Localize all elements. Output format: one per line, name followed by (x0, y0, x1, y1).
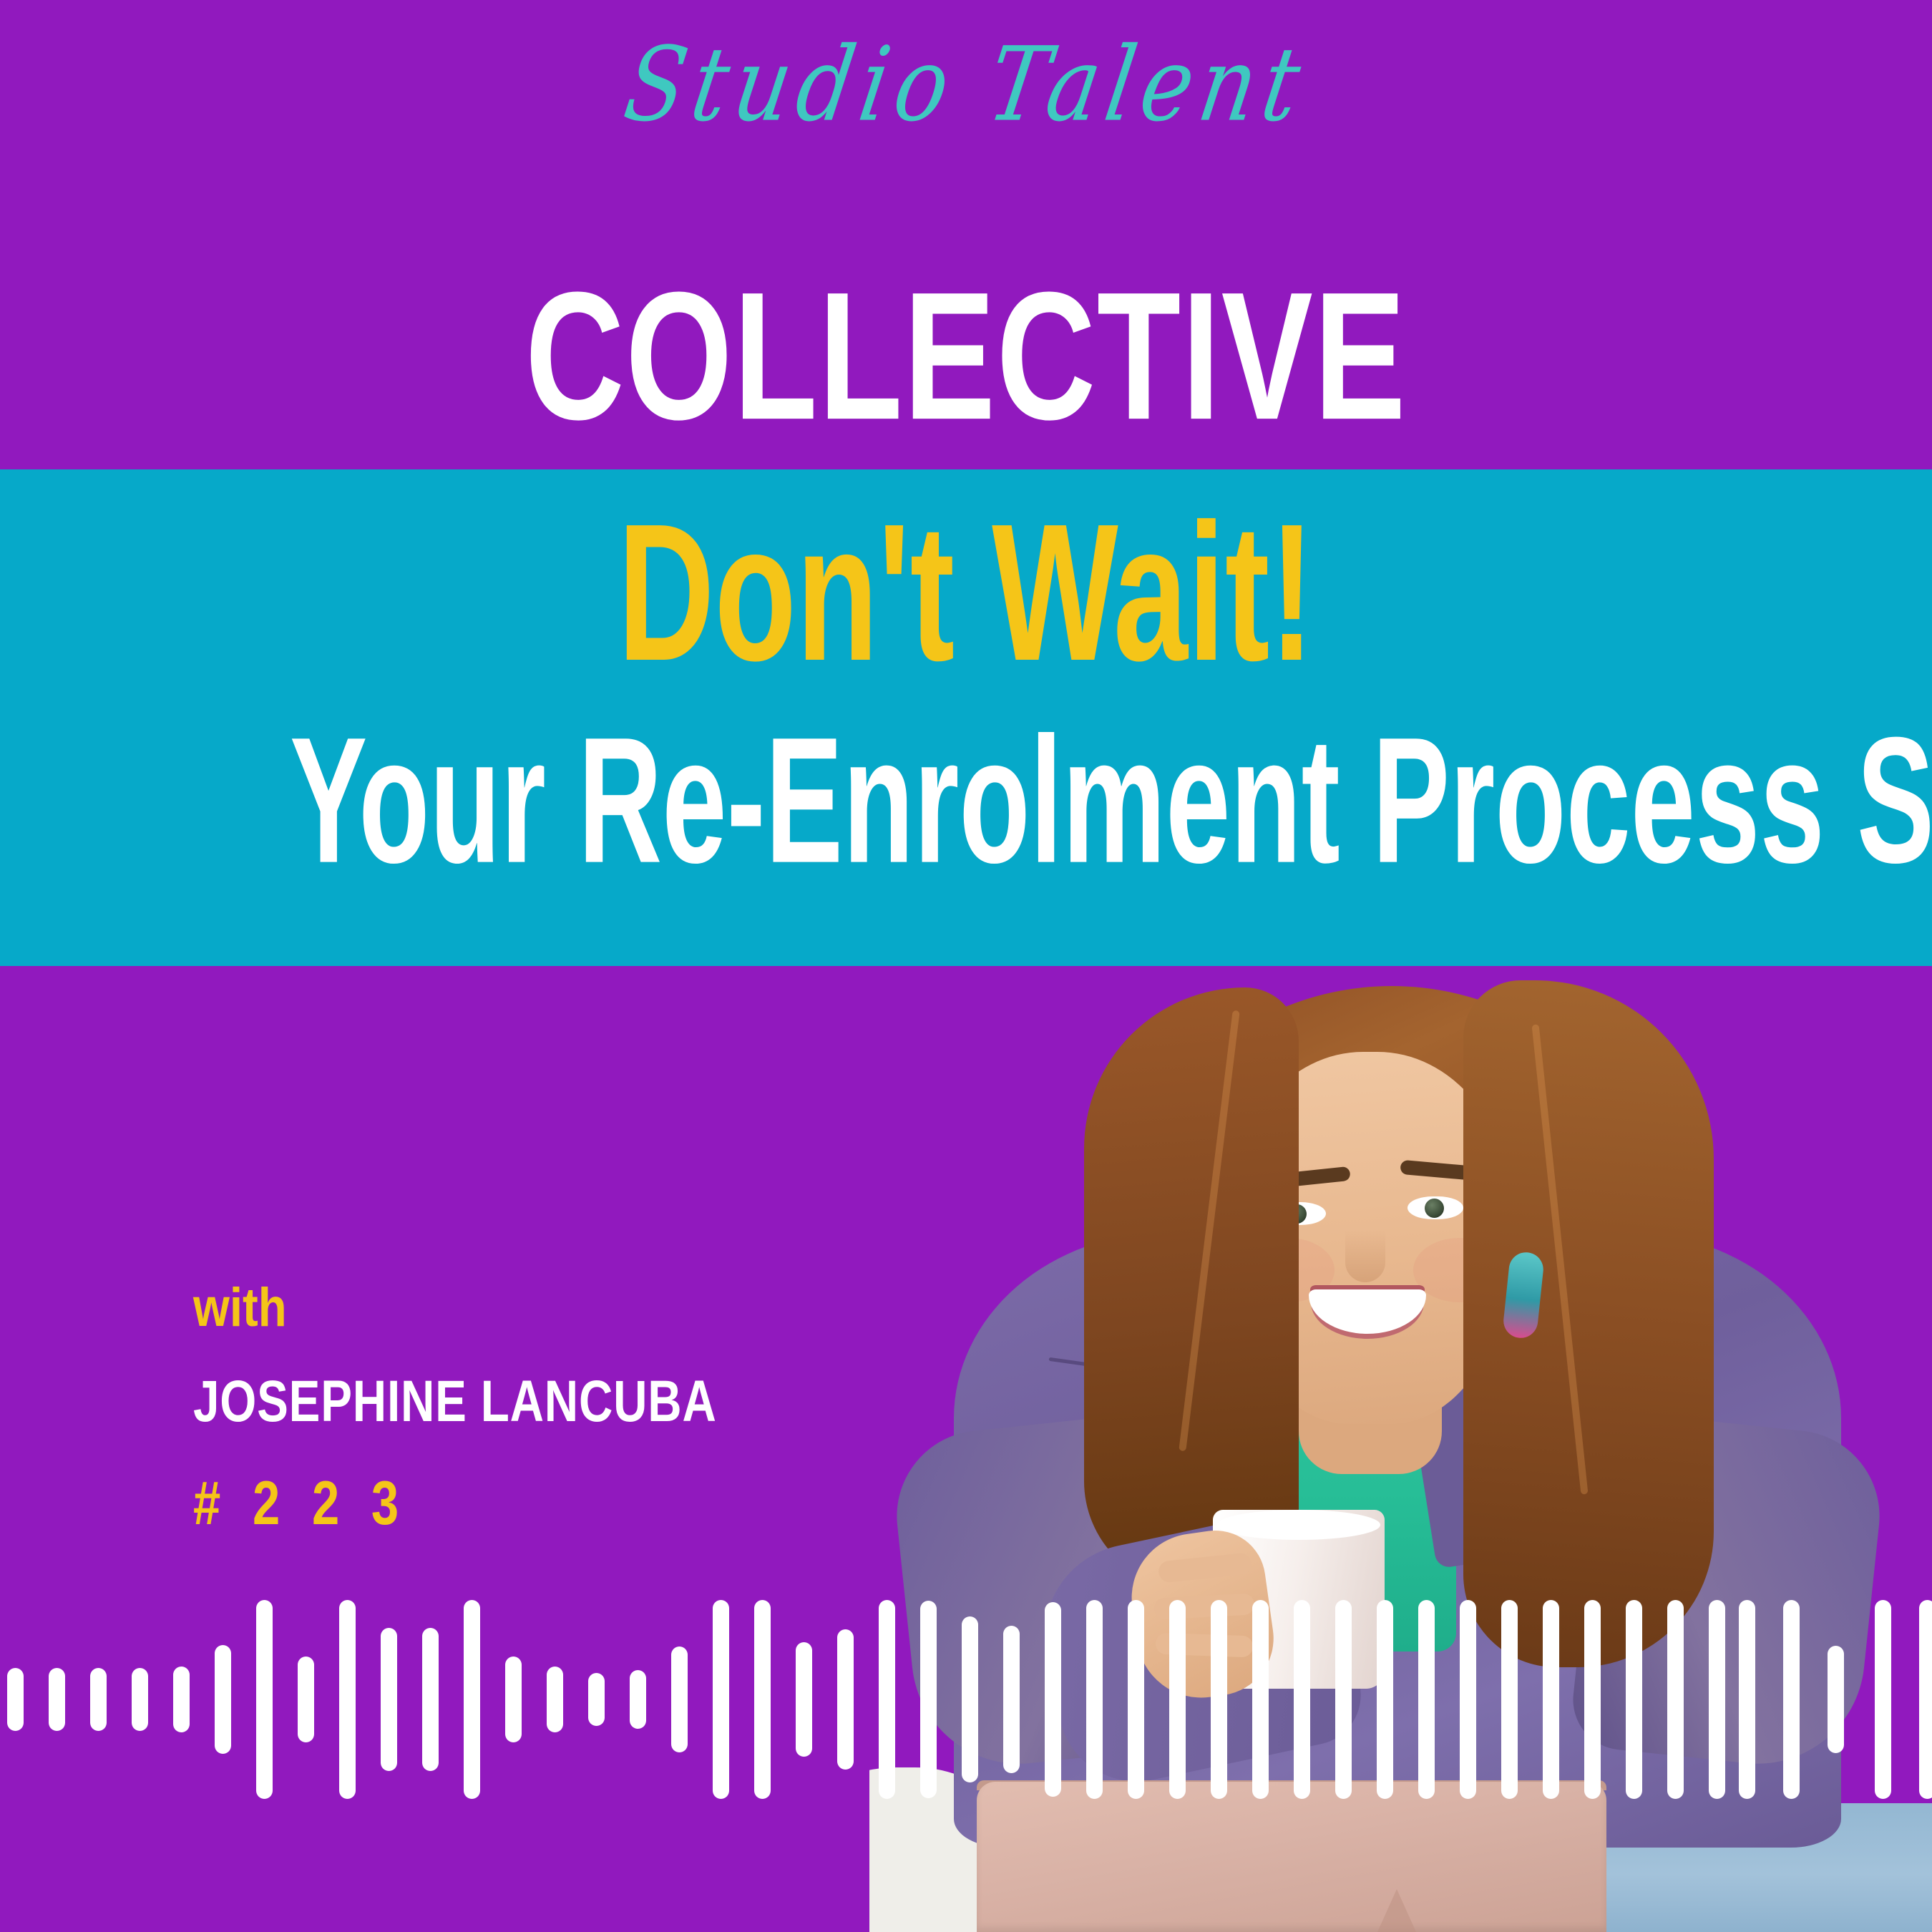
waveform-bar (671, 1646, 688, 1752)
finger-3 (1156, 1633, 1254, 1658)
waveform-bar (49, 1668, 65, 1731)
waveform-bar (547, 1667, 563, 1732)
mug-rim (1217, 1510, 1380, 1540)
host-photo (869, 966, 1932, 1932)
waveform-bar (754, 1600, 771, 1799)
waveform-bar (505, 1657, 522, 1742)
nose (1345, 1231, 1385, 1282)
waveform-bar (339, 1600, 356, 1799)
brand-header: Studio Talent COLLECTIVE (0, 0, 1932, 469)
laptop-logo-icon (1377, 1889, 1416, 1932)
episode-title-banner: Don't Wait! Your Re-Enrolment Process St… (0, 469, 1932, 966)
waveform-bar (422, 1628, 439, 1771)
eye-right (1407, 1196, 1463, 1219)
waveform-bar (630, 1670, 646, 1729)
brand-script-wordmark: Studio Talent (0, 34, 1932, 136)
waveform-bar (256, 1600, 273, 1799)
waveform-bar (7, 1668, 24, 1731)
waveform-bar (298, 1657, 314, 1742)
podcast-cover-art: Studio Talent COLLECTIVE Don't Wait! You… (0, 0, 1932, 1932)
hair-front-left (1084, 987, 1299, 1589)
waveform-bar (796, 1642, 812, 1757)
brand-collective-wordmark: COLLECTIVE (193, 265, 1739, 447)
waveform-bar (713, 1600, 729, 1799)
episode-number: # 2 2 3 (193, 1473, 717, 1534)
waveform-bar (588, 1673, 605, 1726)
waveform-bar (173, 1667, 190, 1732)
waveform-bar (464, 1600, 480, 1799)
waveform-bar (132, 1668, 148, 1731)
hair-front-right (1463, 980, 1714, 1667)
waveform-bar (90, 1668, 107, 1731)
host-name: JOSEPHINE LANCUBA (193, 1372, 717, 1431)
iris-right (1425, 1199, 1444, 1218)
waveform-bar (381, 1628, 397, 1771)
episode-meta: with JOSEPHINE LANCUBA # 2 2 3 (193, 1281, 848, 1534)
with-label: with (193, 1281, 756, 1335)
waveform-bar (215, 1645, 231, 1754)
episode-title-eyebrow: Don't Wait! (270, 495, 1662, 691)
waveform-bar (837, 1629, 854, 1770)
episode-title-main: Your Re-Enrolment Process Starts Now (290, 711, 1642, 891)
laptop (977, 1782, 1606, 1932)
